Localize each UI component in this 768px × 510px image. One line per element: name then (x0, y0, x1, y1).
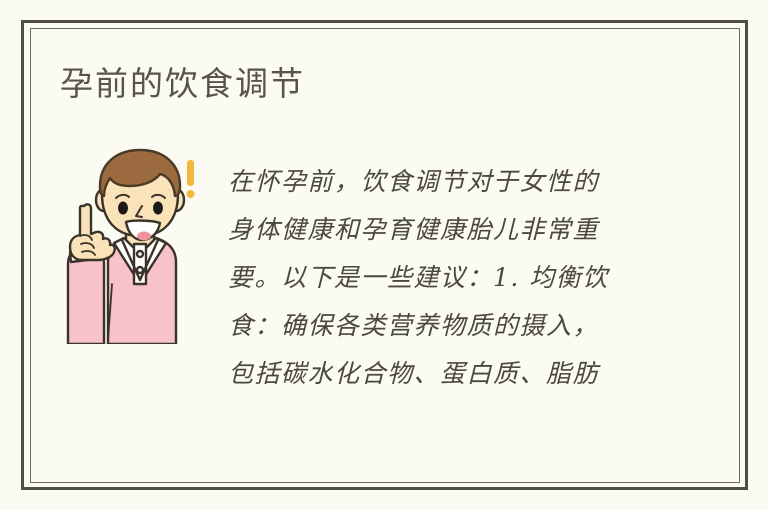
page-title: 孕前的饮食调节 (60, 64, 305, 104)
body-line: 食：确保各类营养物质的摄入， (228, 302, 658, 350)
body-line: 包括碳水化合物、蛋白质、脂肪 (228, 350, 658, 398)
exclamation-icon (187, 160, 195, 198)
body-line: 在怀孕前，饮食调节对于女性的 (228, 158, 658, 206)
body-line: 要。以下是一些建议：1. 均衡饮 (228, 254, 658, 302)
corner-watermark: · (750, 490, 754, 500)
pointing-person-illustration (56, 144, 216, 344)
article-card: 孕前的饮食调节 (0, 0, 768, 510)
article-body: 在怀孕前，饮食调节对于女性的 身体健康和孕育健康胎儿非常重 要。以下是一些建议：… (228, 158, 658, 398)
body-line: 身体健康和孕育健康胎儿非常重 (228, 206, 658, 254)
